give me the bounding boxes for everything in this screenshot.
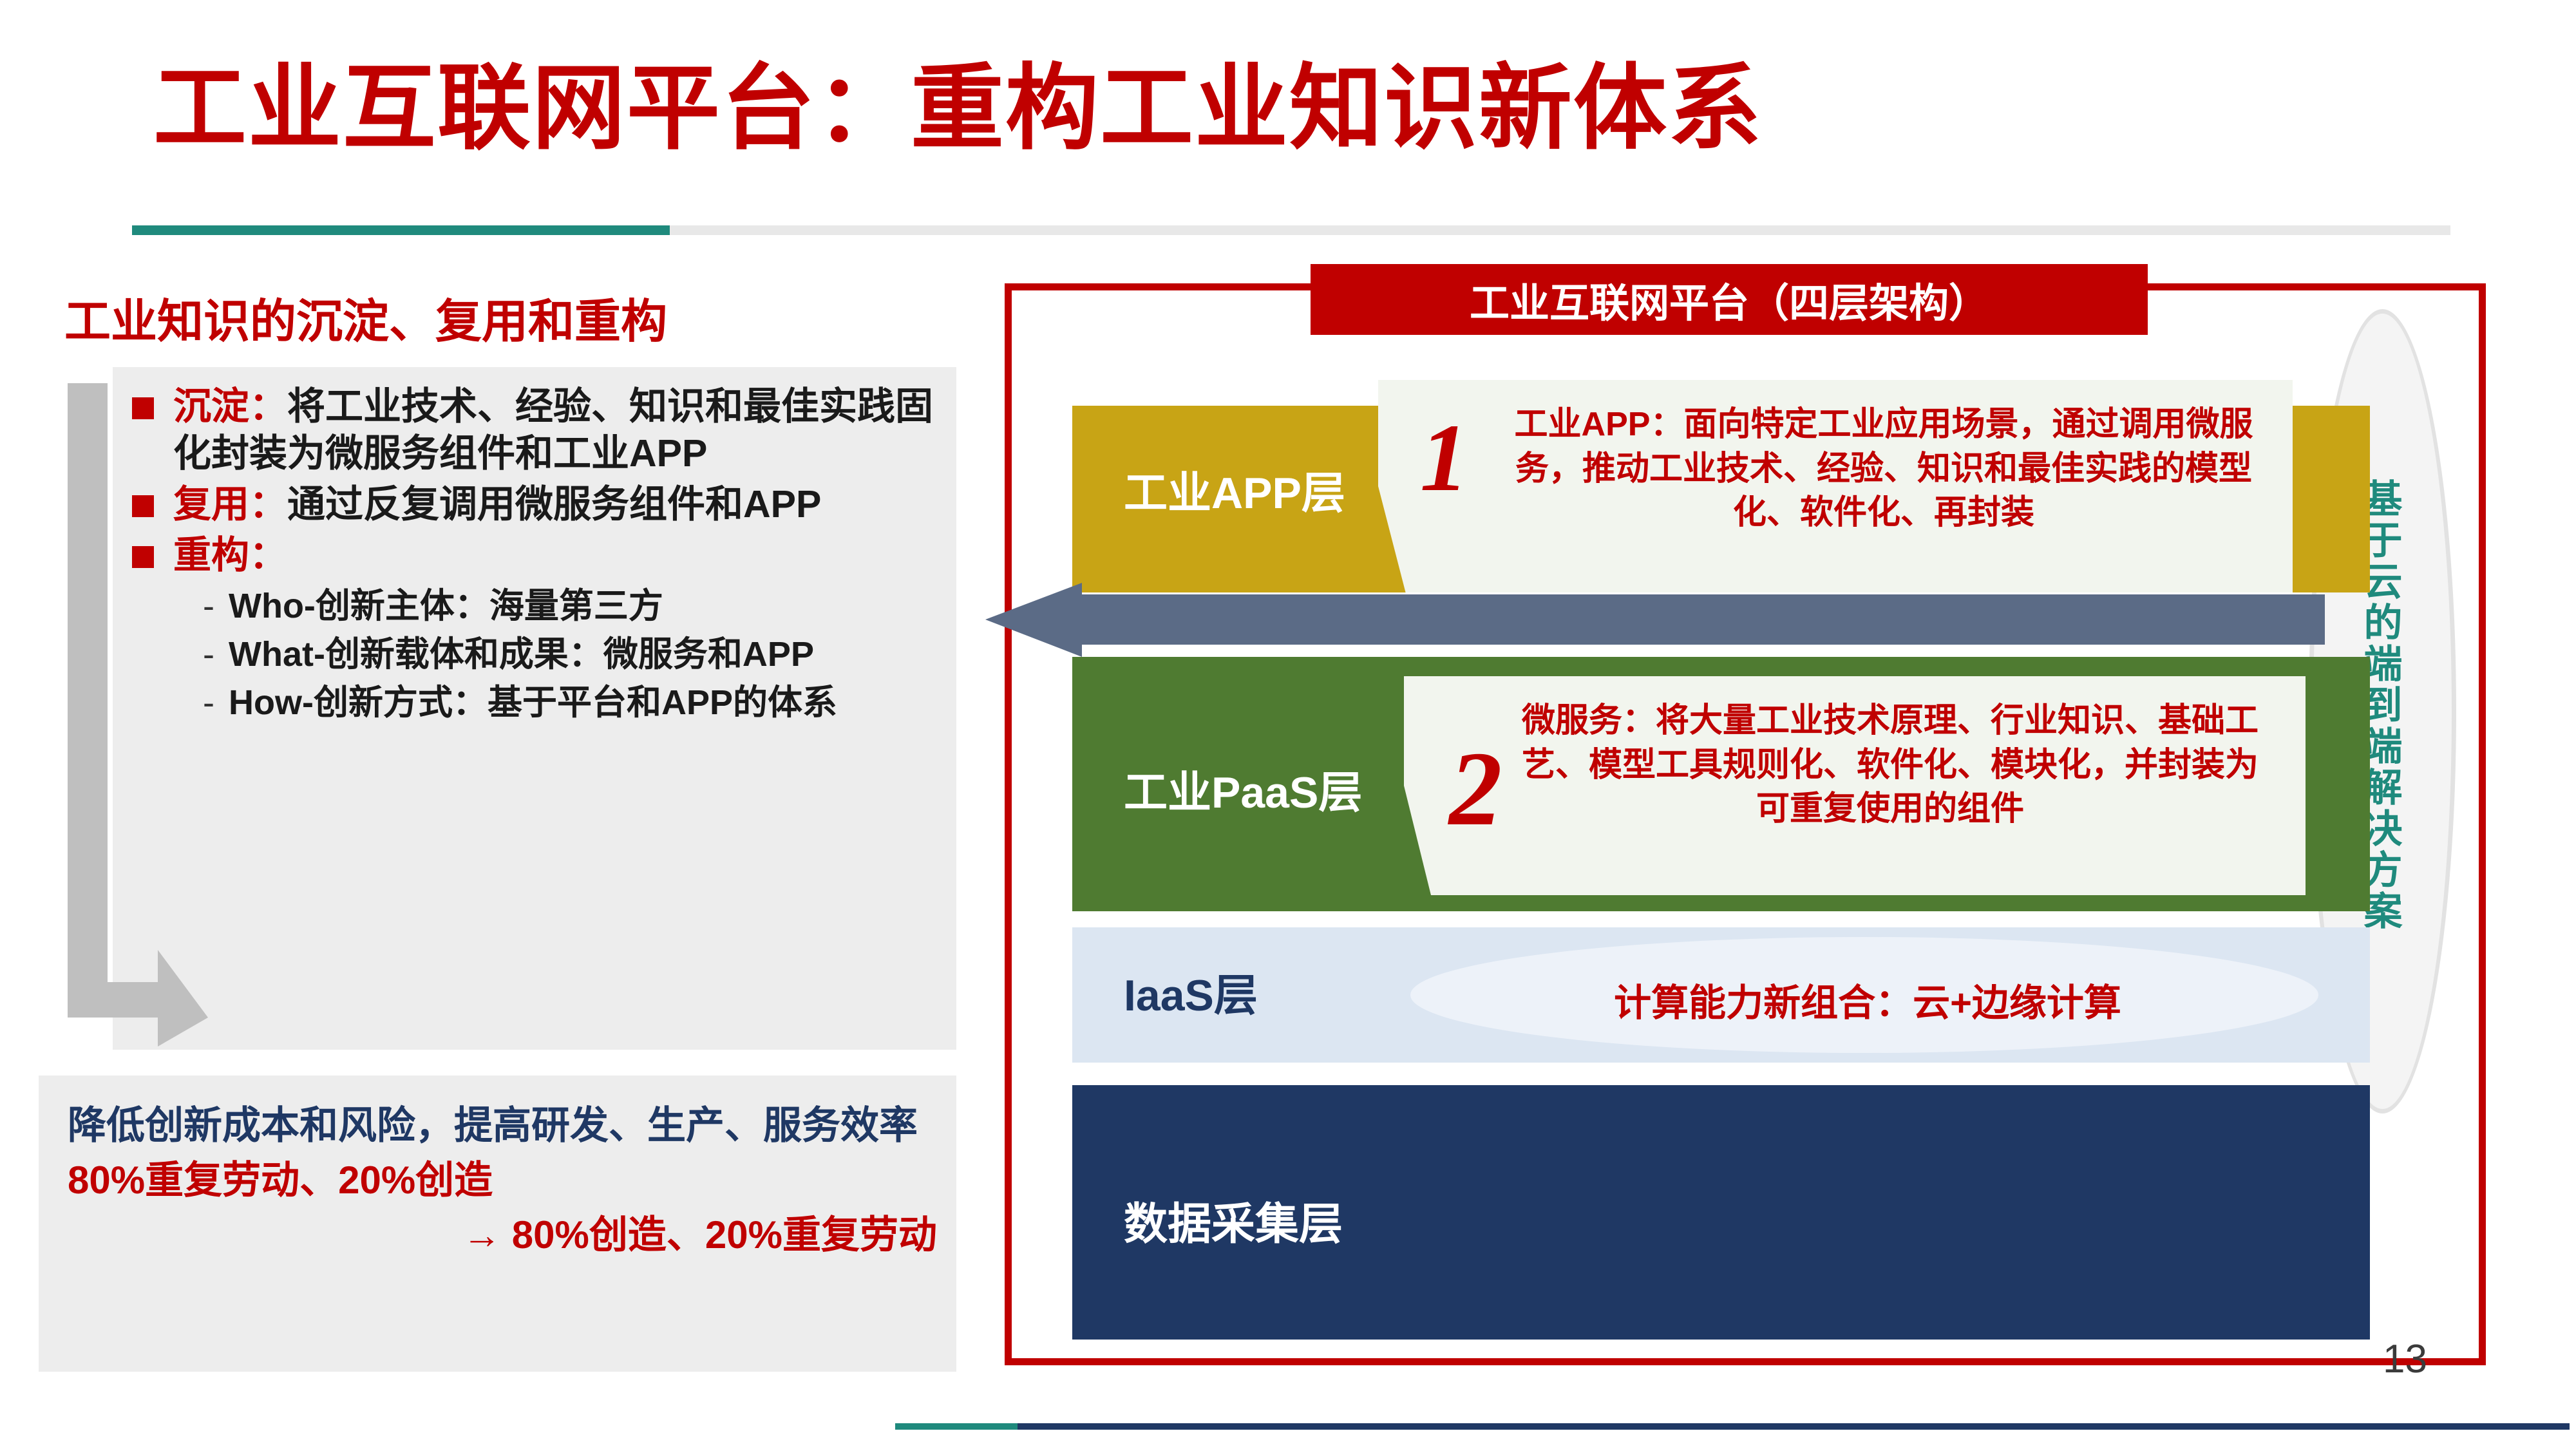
list-item: 沉淀：将工业技术、经验、知识和最佳实践固化封装为微服务组件和工业APP <box>132 383 943 477</box>
bullet-text-1: 复用：通过反复调用微服务组件和APP <box>173 481 821 528</box>
page-number: 13 <box>2383 1336 2427 1382</box>
sub-text-2: How-创新方式：基于平台和APP的体系 <box>229 680 837 726</box>
layer-app-number: 1 <box>1420 402 1468 513</box>
layer-paas-number: 2 <box>1449 728 1502 850</box>
layer-iaas-callout-text: 计算能力新组合：云+边缘计算 <box>1449 972 2286 1027</box>
page-title: 工业互联网平台：重构工业知识新体系 <box>153 32 1763 167</box>
bullet-body-0: 将工业技术、经验、知识和最佳实践固化封装为微服务组件和工业APP <box>173 385 933 475</box>
title-divider-accent <box>132 225 670 235</box>
layer-app-callout-text: 工业APP：面向特定工业应用场景，通过调用微服务，推动工业技术、经验、知识和最佳… <box>1501 402 2267 535</box>
list-item: 重构： <box>132 532 943 579</box>
architecture-frame-title: 工业互联网平台（四层架构） <box>1311 264 2148 335</box>
sub-list-item: - What-创新载体和成果：微服务和APP <box>203 632 943 677</box>
sub-dash-icon: - <box>203 632 214 677</box>
summary-line-1: 降低创新成本和风险，提高研发、生产、服务效率 <box>68 1104 918 1147</box>
bullet-text-2: 重构： <box>173 532 287 579</box>
sub-list-item: - Who-创新主体：海量第三方 <box>203 583 943 629</box>
bullet-key-1: 复用： <box>173 483 287 526</box>
bullet-square-icon <box>132 546 154 568</box>
bullet-square-icon <box>132 397 154 419</box>
layer-paas-label: 工业PaaS层 <box>1124 757 1362 820</box>
bullet-key-2: 重构： <box>173 534 287 576</box>
layer-data-label: 数据采集层 <box>1124 1188 1343 1252</box>
summary-line-2: 80%重复劳动、20%创造 <box>68 1159 493 1202</box>
slide-root: 工业互联网平台：重构工业知识新体系 工业知识的沉淀、复用和重构 沉淀：将工业技术… <box>0 0 2576 1449</box>
left-bullet-list: 沉淀：将工业技术、经验、知识和最佳实践固化封装为微服务组件和工业APP 复用：通… <box>132 383 943 726</box>
footer-divider-accent <box>895 1423 1018 1430</box>
list-item: 复用：通过反复调用微服务组件和APP <box>132 481 943 528</box>
bullet-key-0: 沉淀： <box>173 385 287 428</box>
sub-text-0: Who-创新主体：海量第三方 <box>229 583 663 629</box>
bullet-square-icon <box>132 495 154 517</box>
layer-app-label: 工业APP层 <box>1124 457 1345 521</box>
footer-divider <box>895 1423 2570 1430</box>
sub-list-item: - How-创新方式：基于平台和APP的体系 <box>203 680 943 726</box>
layer-paas-callout-text: 微服务：将大量工业技术原理、行业知识、基础工艺、模型工具规则化、软件化、模块化，… <box>1507 699 2273 831</box>
left-summary-text: 降低创新成本和风险，提高研发、生产、服务效率 80%重复劳动、20%创造 → 8… <box>68 1098 943 1263</box>
left-heading: 工业知识的沉淀、复用和重构 <box>64 283 667 351</box>
reuse-arrow-left-icon <box>985 583 2325 657</box>
layer-iaas-label: IaaS层 <box>1124 960 1258 1023</box>
summary-line-3: → 80%创造、20%重复劳动 <box>68 1207 943 1262</box>
bullet-text-0: 沉淀：将工业技术、经验、知识和最佳实践固化封装为微服务组件和工业APP <box>173 383 943 477</box>
sub-text-1: What-创新载体和成果：微服务和APP <box>229 632 814 677</box>
sub-dash-icon: - <box>203 680 214 725</box>
bullet-body-1: 通过反复调用微服务组件和APP <box>287 483 821 526</box>
sub-dash-icon: - <box>203 583 214 629</box>
